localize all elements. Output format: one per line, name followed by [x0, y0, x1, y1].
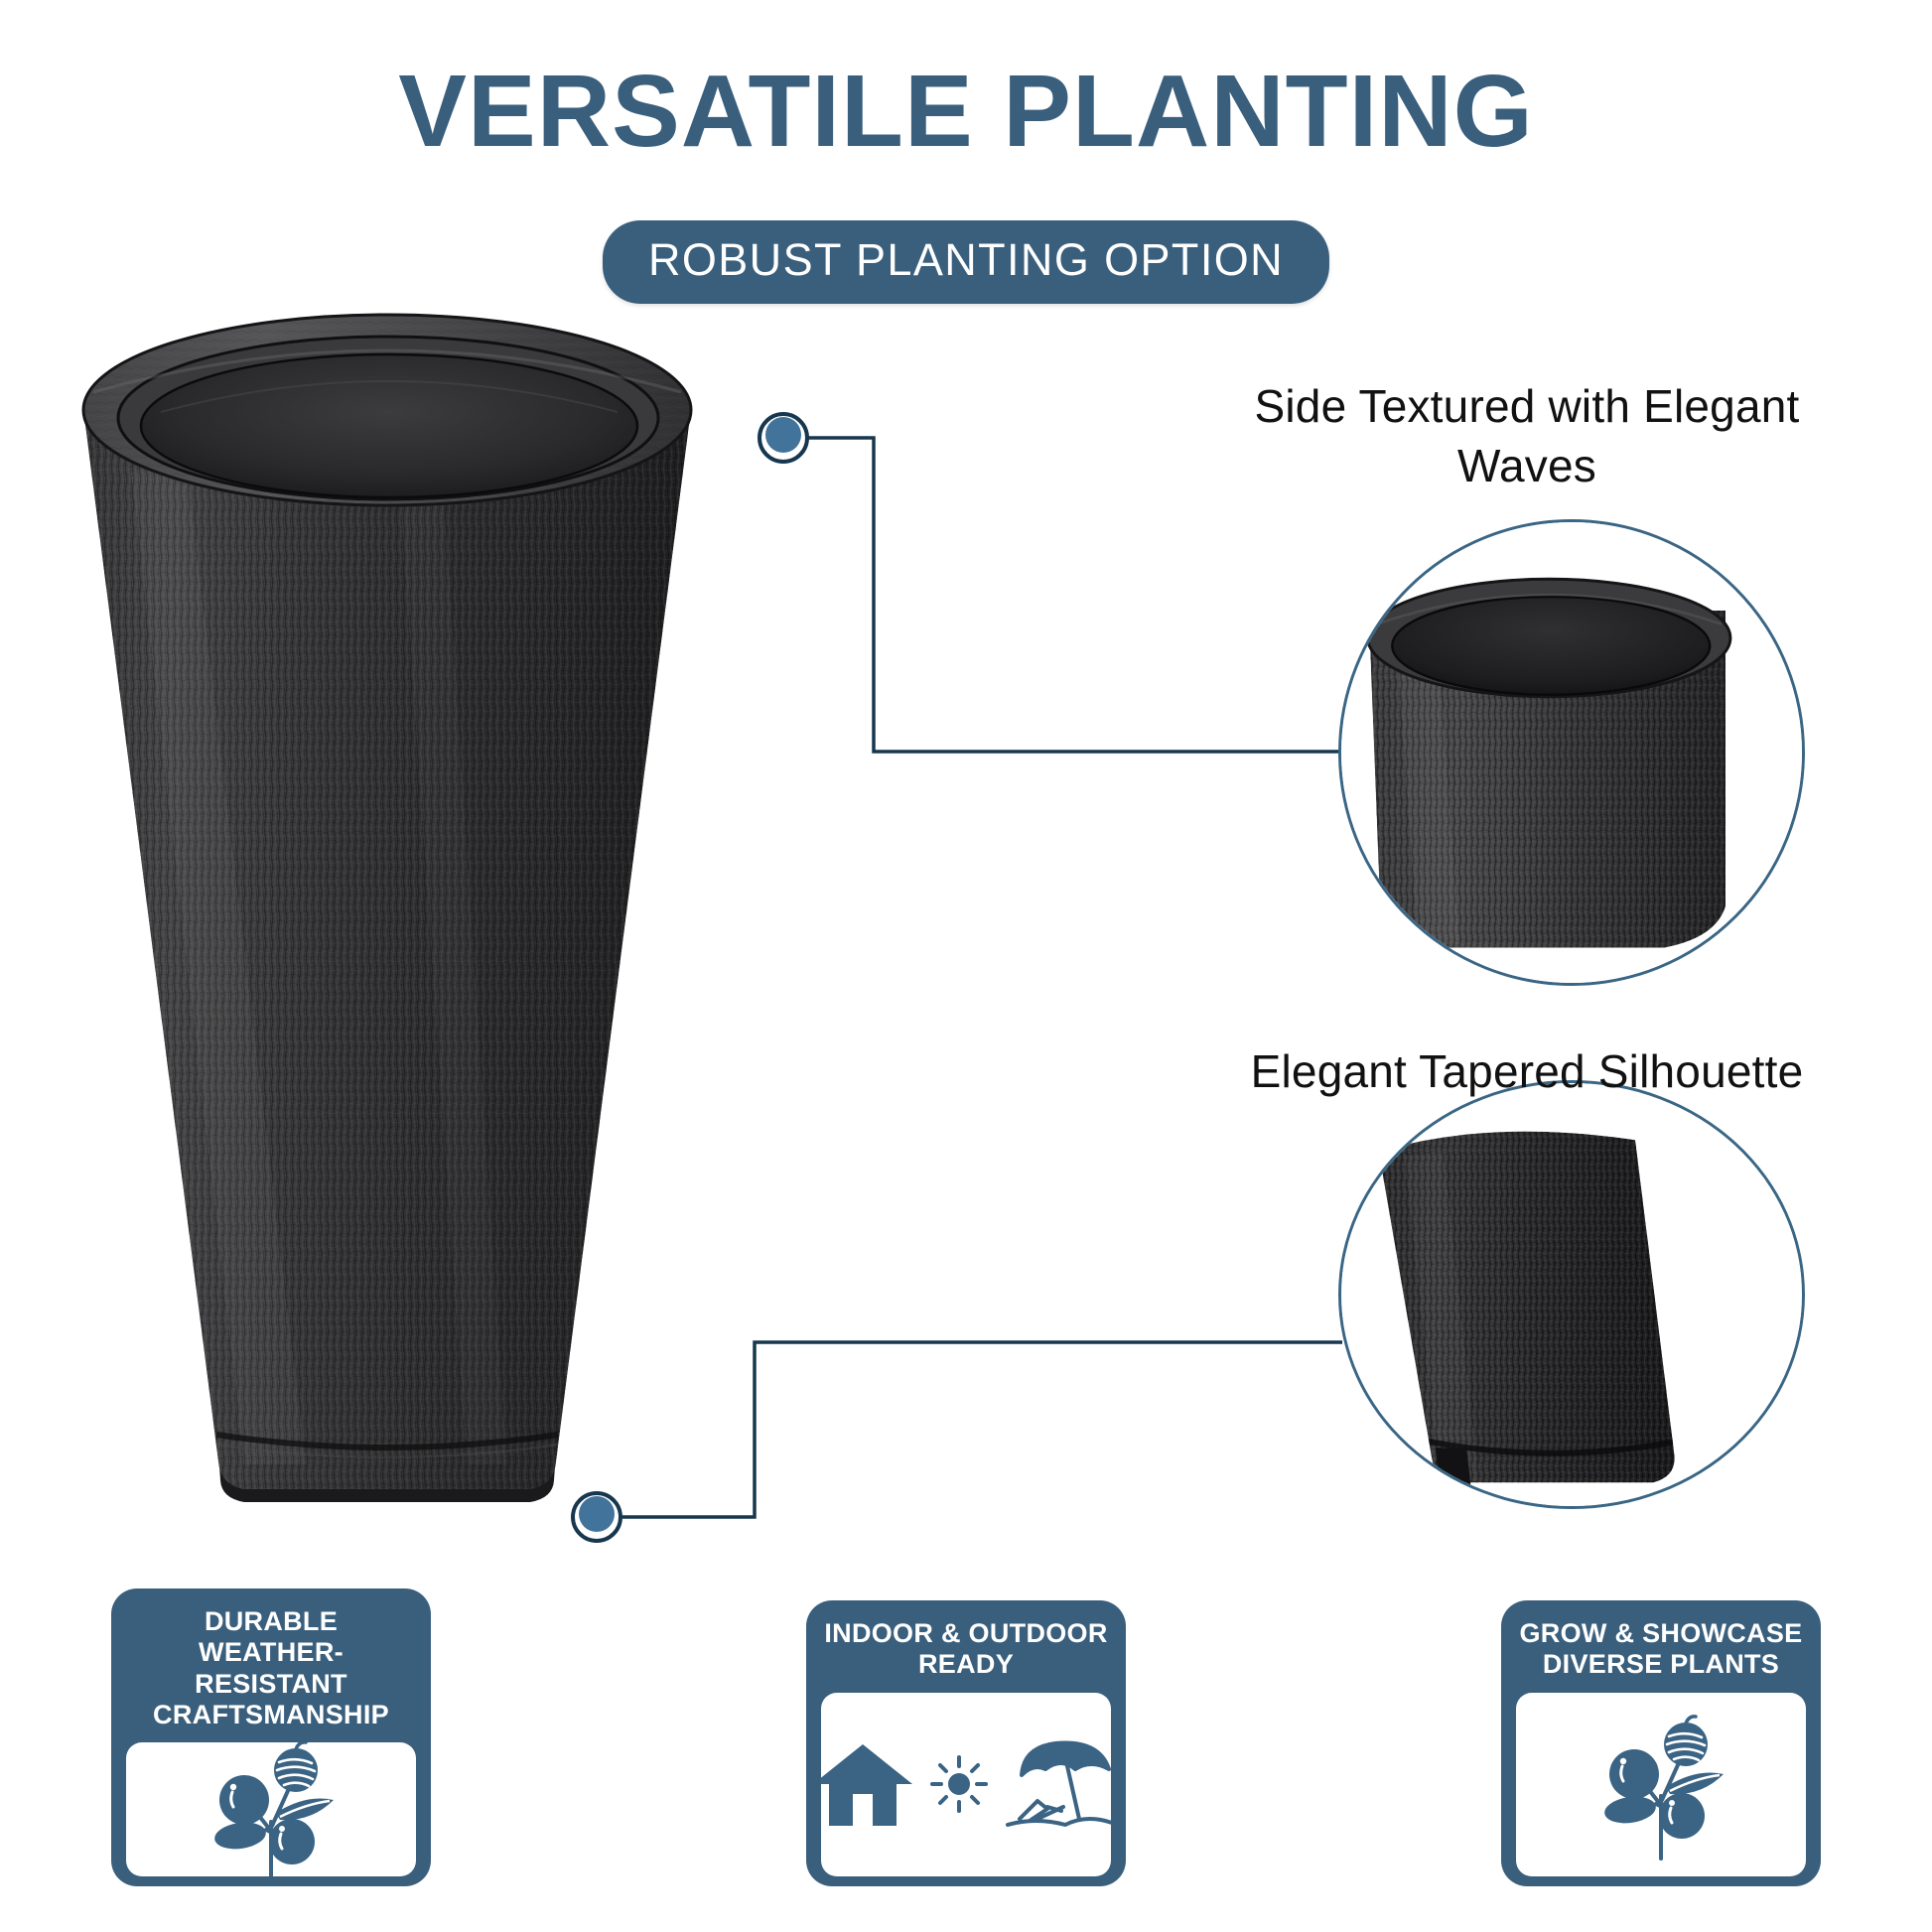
- subtitle-badge: ROBUST PLANTING OPTION: [603, 220, 1329, 304]
- feature-cards-row: DURABLE WEATHER-RESISTANT CRAFTSMANSHIP: [0, 1585, 1932, 1902]
- feature-card-grow-showcase[interactable]: GROW & SHOWCASE DIVERSE PLANTS: [1501, 1600, 1821, 1886]
- main-product-image: [69, 293, 705, 1554]
- feature-card-icon-area: [1516, 1693, 1806, 1876]
- callout-marker-side-texture[interactable]: [758, 412, 809, 464]
- house-icon: [821, 1738, 914, 1830]
- feature-card-indoor-outdoor[interactable]: INDOOR & OUTDOOR READY: [806, 1600, 1126, 1886]
- detail-image-tapered-silhouette: [1341, 1083, 1802, 1506]
- callout-label-side-texture: Side Textured with Elegant Waves: [1219, 377, 1835, 496]
- feature-card-icon-area: [821, 1693, 1111, 1876]
- detail-circle-side-texture: [1338, 519, 1805, 986]
- berry-sprig-icon: [197, 1742, 345, 1876]
- callout-label-tapered-silhouette: Elegant Tapered Silhouette: [1219, 1042, 1835, 1102]
- beach-umbrella-icon: [1004, 1735, 1111, 1833]
- detail-image-side-texture: [1341, 522, 1802, 983]
- feature-card-title: INDOOR & OUTDOOR READY: [820, 1618, 1111, 1681]
- feature-card-title: GROW & SHOWCASE DIVERSE PLANTS: [1516, 1618, 1807, 1681]
- detail-circle-tapered-silhouette: [1338, 1080, 1805, 1509]
- feature-card-durable[interactable]: DURABLE WEATHER-RESISTANT CRAFTSMANSHIP: [111, 1588, 431, 1886]
- feature-card-title: DURABLE WEATHER-RESISTANT CRAFTSMANSHIP: [121, 1606, 421, 1730]
- page-title: VERSATILE PLANTING: [0, 58, 1932, 165]
- sun-icon: [928, 1754, 990, 1814]
- callout-marker-tapered-silhouette[interactable]: [571, 1491, 622, 1543]
- feature-card-icon-area: [126, 1742, 416, 1876]
- planter-illustration: [69, 293, 705, 1554]
- infographic-stage: VERSATILE PLANTING ROBUST PLANTING OPTIO…: [0, 0, 1932, 1932]
- berry-sprig-icon: [1587, 1705, 1735, 1863]
